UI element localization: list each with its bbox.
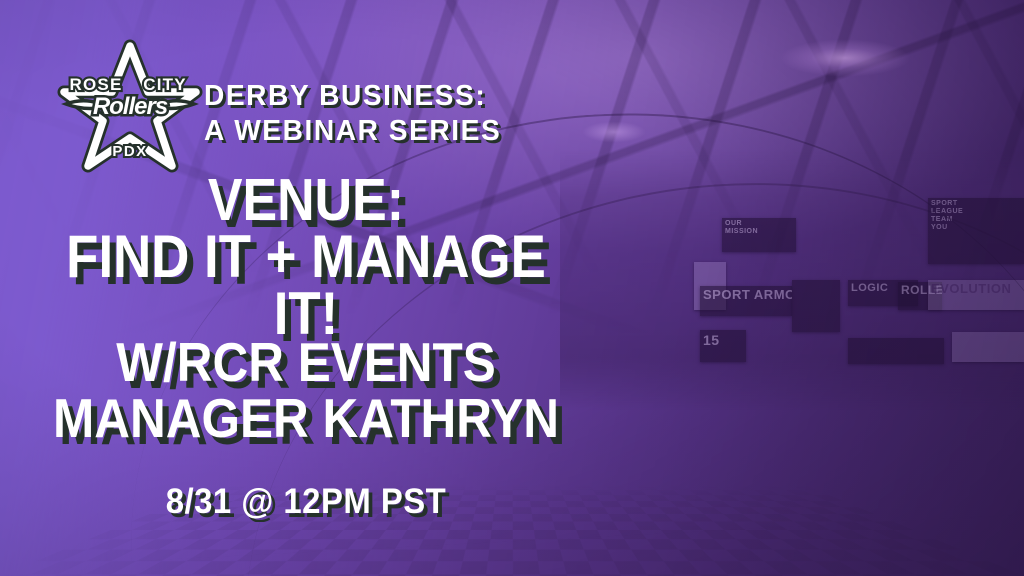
logo-word-city: CITY — [143, 75, 187, 94]
headline-line-2: FIND IT + MANAGE IT! — [37, 228, 576, 342]
promotional-poster: OUR MISSIONSPORT ARMOUR15LOGICROLLER DER… — [0, 0, 1024, 576]
poster-content: ROSE CITY Rollers PDX DERBY BUSINESS: A … — [0, 0, 1024, 576]
webinar-series-title: DERBY BUSINESS: A WEBINAR SERIES — [204, 79, 501, 150]
logo-word-rose: ROSE — [70, 75, 123, 94]
rose-city-rollers-logo: ROSE CITY Rollers PDX — [62, 42, 198, 167]
svg-text:Rollers: Rollers — [93, 93, 168, 120]
speaker-line-2: MANAGER KATHRYN — [31, 390, 582, 446]
logo-word-pdx: PDX — [112, 143, 147, 160]
speaker-credit: W/RCR EVENTS MANAGER KATHRYN — [31, 334, 582, 446]
headline: VENUE: FIND IT + MANAGE IT! — [37, 172, 576, 342]
speaker-line-1: W/RCR EVENTS — [31, 334, 582, 390]
headline-line-1: VENUE: — [37, 172, 576, 228]
event-datetime: 8/31 @ 12PM PST — [18, 482, 593, 522]
